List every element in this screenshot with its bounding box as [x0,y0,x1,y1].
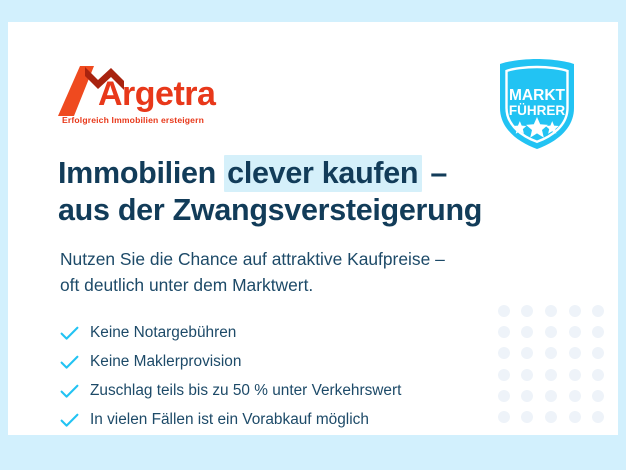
headline-line1-after: – [422,156,447,190]
check-icon [60,326,90,341]
list-item: In vielen Fällen ist ein Vorabkauf mögli… [60,406,530,435]
subheading-line2: oft deutlich unter dem Marktwert. [60,272,560,298]
list-item-label: In vielen Fällen ist ein Vorabkauf mögli… [90,411,369,429]
logo-wordmark: Argetra [98,77,215,111]
list-item: Keine Notargebühren [60,319,530,348]
outer-frame: Argetra Erfolgreich Immobilien ersteiger… [0,0,626,470]
headline-line2: aus der Zwangsversteigerung [58,192,538,229]
decorative-dot [545,390,557,402]
page-headline: Immobilien clever kaufen – aus der Zwang… [58,155,538,229]
decorative-dot [569,305,581,317]
decorative-dot [545,305,557,317]
decorative-dot [592,411,604,423]
decorative-dot [521,305,533,317]
decorative-dot [569,411,581,423]
decorative-dot [498,305,510,317]
decorative-dot [545,411,557,423]
subheading-line1: Nutzen Sie die Chance auf attraktive Kau… [60,246,560,272]
decorative-dot [592,305,604,317]
list-item-label: Zuschlag teils bis zu 50 % unter Verkehr… [90,382,401,400]
check-icon [60,384,90,399]
decorative-dot [545,326,557,338]
badge-line1: MARKT [509,87,565,104]
decorative-dot [592,326,604,338]
logo-tagline: Erfolgreich Immobilien ersteigern [62,115,204,125]
decorative-dot [592,369,604,381]
list-item-label: Keine Maklerprovision [90,353,241,371]
decorative-dot [592,347,604,359]
argetra-logo[interactable]: Argetra Erfolgreich Immobilien ersteiger… [58,64,218,126]
decorative-dot [545,347,557,359]
decorative-dot [569,347,581,359]
list-item-label: Keine Notargebühren [90,324,236,342]
decorative-dot [592,390,604,402]
list-item: Keine Maklerprovision [60,348,530,377]
decorative-dot [569,369,581,381]
market-leader-badge: MARKT FÜHRER [494,58,580,150]
badge-line2: FÜHRER [509,103,565,118]
headline-line1-before: Immobilien [58,156,224,190]
benefit-list: Keine NotargebührenKeine Maklerprovision… [60,319,530,435]
check-icon [60,355,90,370]
headline-highlight: clever kaufen [224,155,422,192]
decorative-dot [545,369,557,381]
list-item: Zuschlag teils bis zu 50 % unter Verkehr… [60,377,530,406]
page-subheading: Nutzen Sie die Chance auf attraktive Kau… [60,246,560,298]
check-icon [60,413,90,428]
shield-badge-icon: MARKT FÜHRER [494,58,580,150]
decorative-dot [569,326,581,338]
decorative-dot [569,390,581,402]
advertisement-card: Argetra Erfolgreich Immobilien ersteiger… [8,22,618,435]
